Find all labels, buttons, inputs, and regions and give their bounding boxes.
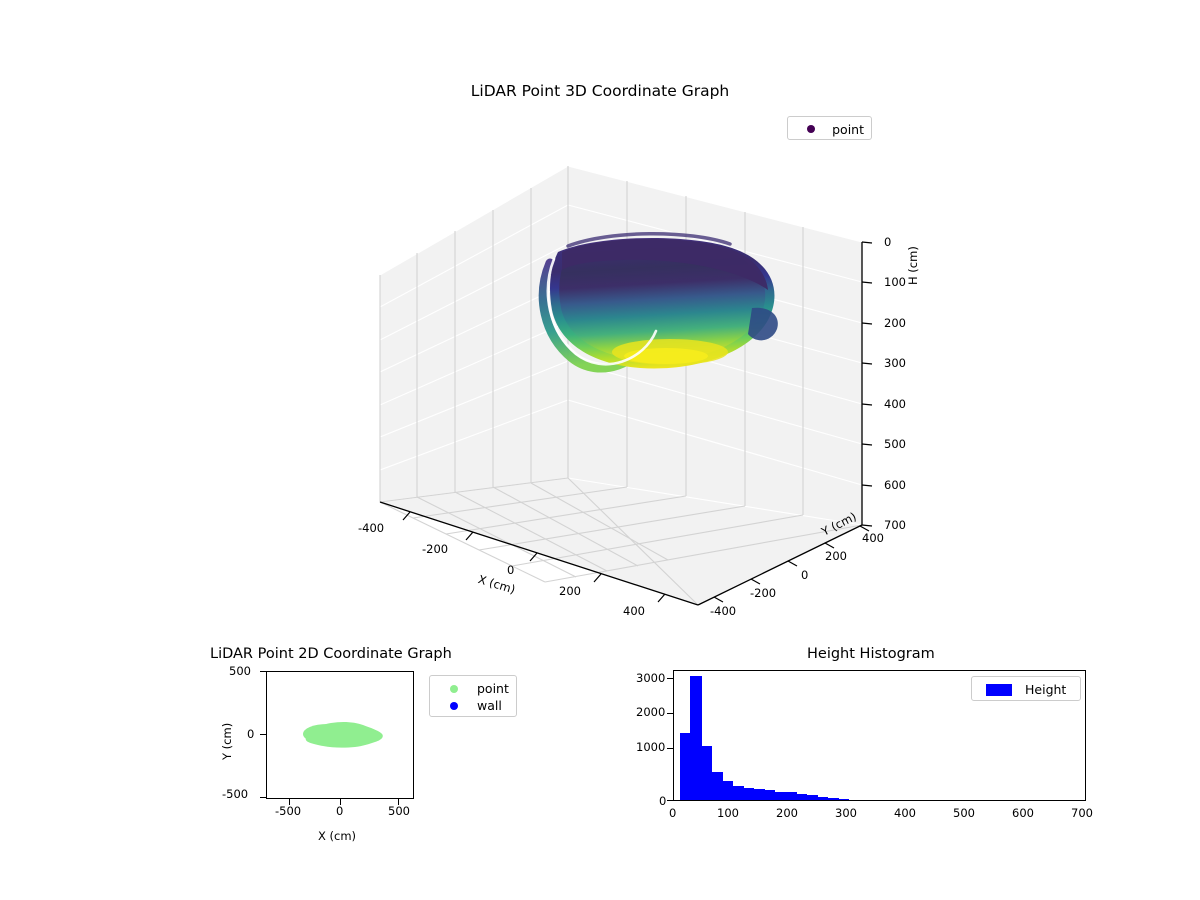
histogram-bar [838,799,849,800]
plot3d-title: LiDAR Point 3D Coordinate Graph [0,84,1200,100]
histogram-bar [754,789,765,800]
wall-marker-icon [437,702,471,710]
plot2d-xtick-mark-1 [340,799,341,805]
histogram-bar [680,733,691,800]
plot2d-ytick-0: 500 [229,666,251,678]
histogram-bar [786,792,797,800]
histogram-bar [743,788,754,800]
height-bar-icon [979,684,1019,696]
hist-ytick-1: 2000 [636,707,665,719]
legend-item-wall: wall [437,697,509,714]
plot3d-ztick-2: 200 [884,318,906,330]
hist-ytick-mark-3 [667,800,673,801]
histogram-bar [817,797,828,800]
hist-ytick-mark-0 [667,678,673,679]
histogram-bar [712,772,723,800]
plot2d-ytick-1: 0 [247,729,254,741]
hist-xtick-3: 300 [835,808,857,820]
plot3d-ztick-6: 600 [884,480,906,492]
histogram-bar [764,790,775,800]
plot2d-yaxis-label: Y (cm) [222,723,234,760]
histogram-bar [722,781,733,800]
plot2d-xtick-mark-0 [289,799,290,805]
plot3d-ztick-0: 0 [884,237,891,249]
histogram-bar [796,794,807,800]
plot2d-ytick-mark-1 [260,734,266,735]
hist-ytick-mark-1 [667,713,673,714]
plot3d-ytick-1: -200 [750,588,776,600]
histogram-bar [828,798,839,800]
plot2d-xtick-2: 500 [388,806,410,818]
plot2d-xtick-0: -500 [275,806,301,818]
figure-canvas: LiDAR Point 3D Coordinate Graph point [0,0,1200,900]
plot3d-ytick-0: -400 [710,606,736,618]
histogram-bar [807,795,818,800]
hist-xtick-1: 100 [717,808,739,820]
legend-item-height: Height [979,681,1073,698]
histogram-bar [775,792,786,800]
plot3d-ytick-2: 0 [801,570,808,582]
plot2d-ytick-2: -500 [222,789,248,801]
point-marker-icon [437,685,471,693]
plot3d-xtick-3: 200 [559,586,581,598]
legend-item-point: point [437,680,509,697]
plot3d-ztick-7: 700 [884,520,906,532]
hist-xtick-7: 700 [1071,808,1093,820]
histogram-legend[interactable]: Height [971,676,1081,701]
hist-xtick-5: 500 [953,808,975,820]
histogram-bar [690,676,701,800]
histogram-bar [701,746,712,800]
histogram-title: Height Histogram [807,647,935,662]
histogram-bar [733,786,744,800]
plot2d-xtick-mark-2 [398,799,399,805]
hist-ytick-0: 3000 [636,673,665,685]
plot2d-title: LiDAR Point 2D Coordinate Graph [210,647,452,662]
plot3d-ztick-1: 100 [884,277,906,289]
plot3d-xtick-4: 400 [623,606,645,618]
plot2d-xtick-1: 0 [336,806,343,818]
hist-xtick-0: 0 [669,808,676,820]
plot3d-ytick-3: 200 [825,551,847,563]
plot3d-ztick-5: 500 [884,439,906,451]
plot3d-xtick-1: -200 [422,544,448,556]
hist-xtick-2: 200 [776,808,798,820]
plot2d-ytick-mark-0 [260,671,266,672]
plot3d-xtick-2: 0 [507,565,514,577]
plot3d-ztick-4: 400 [884,399,906,411]
hist-xtick-6: 600 [1012,808,1034,820]
legend-label: wall [471,698,502,713]
hist-ytick-mark-2 [667,748,673,749]
plot2d-legend[interactable]: point wall [429,675,517,717]
hist-ytick-2: 1000 [636,742,665,754]
legend-label: point [471,681,509,696]
plot2d-ytick-mark-2 [260,797,266,798]
plot3d-axes: -400 -200 0 200 400 X (cm) -400 -200 0 2… [300,130,940,630]
plot2d-axes [266,671,414,799]
plot3d-ztick-3: 300 [884,358,906,370]
plot3d-ytick-4: 400 [862,533,884,545]
hist-xtick-4: 400 [894,808,916,820]
plot3d-xtick-0: -400 [358,523,384,535]
hist-ytick-3: 0 [659,796,666,808]
plot2d-point-cloud [267,672,413,798]
plot2d-xaxis-label: X (cm) [318,831,356,843]
legend-label: Height [1019,682,1066,697]
plot3d-zaxis-label: H (cm) [908,246,920,285]
